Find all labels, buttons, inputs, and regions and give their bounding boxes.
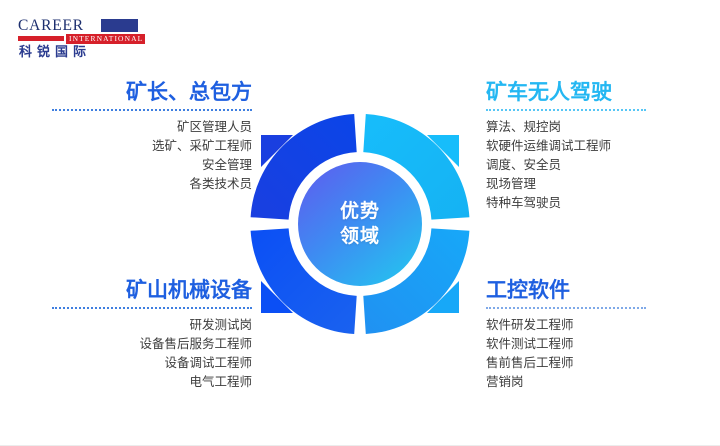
quadrant-block-top-right: 矿车无人驾驶 算法、规控岗 软硬件运维调试工程师 调度、安全员 现场管理 特种车… (486, 80, 686, 213)
list-item: 算法、规控岗 (486, 118, 686, 137)
list-item: 设备调试工程师 (52, 354, 252, 373)
brand-name-en-sub: INTERNATIONAL (66, 34, 145, 44)
donut-center-circle[interactable] (298, 162, 422, 286)
logo-red-bar-icon (18, 36, 64, 41)
quadrant-list-bottom-left: 研发测试岗 设备售后服务工程师 设备调试工程师 电气工程师 (52, 316, 252, 392)
quadrant-list-bottom-right: 软件研发工程师 软件测试工程师 售前售后工程师 营销岗 (486, 316, 686, 392)
heading-divider (486, 109, 646, 111)
list-item: 软硬件运维调试工程师 (486, 137, 686, 156)
list-item: 现场管理 (486, 175, 686, 194)
list-item: 特种车驾驶员 (486, 194, 686, 213)
brand-name-en: CAREER (18, 18, 84, 34)
quadrant-block-top-left: 矿长、总包方 矿区管理人员 选矿、采矿工程师 安全管理 各类技术员 (52, 80, 252, 194)
quadrant-list-top-right: 算法、规控岗 软硬件运维调试工程师 调度、安全员 现场管理 特种车驾驶员 (486, 118, 686, 213)
heading-divider (52, 109, 252, 111)
quadrant-block-bottom-right: 工控软件 软件研发工程师 软件测试工程师 售前售后工程师 营销岗 (486, 278, 686, 392)
logo-blue-block-icon (101, 19, 138, 32)
brand-logo: CAREER INTERNATIONAL 科锐国际 (18, 18, 138, 58)
quadrant-list-top-left: 矿区管理人员 选矿、采矿工程师 安全管理 各类技术员 (52, 118, 252, 194)
donut-svg (245, 109, 475, 339)
list-item: 设备售后服务工程师 (52, 335, 252, 354)
list-item: 营销岗 (486, 373, 686, 392)
brand-name-cn: 科锐国际 (19, 45, 91, 59)
list-item: 电气工程师 (52, 373, 252, 392)
list-item: 研发测试岗 (52, 316, 252, 335)
list-item: 矿区管理人员 (52, 118, 252, 137)
quadrant-heading-bottom-left: 矿山机械设备 (52, 278, 252, 304)
quadrant-heading-bottom-right: 工控软件 (486, 278, 686, 304)
heading-divider (486, 307, 646, 309)
list-item: 各类技术员 (52, 175, 252, 194)
slide-canvas: CAREER INTERNATIONAL 科锐国际 矿长、总包方 矿区管理人员 … (0, 0, 720, 446)
quadrant-heading-top-right: 矿车无人驾驶 (486, 80, 686, 106)
list-item: 软件研发工程师 (486, 316, 686, 335)
list-item: 调度、安全员 (486, 156, 686, 175)
quadrant-heading-top-left: 矿长、总包方 (52, 80, 252, 106)
list-item: 安全管理 (52, 156, 252, 175)
list-item: 售前售后工程师 (486, 354, 686, 373)
list-item: 选矿、采矿工程师 (52, 137, 252, 156)
donut-diagram: 优势 领域 (245, 109, 475, 339)
quadrant-block-bottom-left: 矿山机械设备 研发测试岗 设备售后服务工程师 设备调试工程师 电气工程师 (52, 278, 252, 392)
list-item: 软件测试工程师 (486, 335, 686, 354)
heading-divider (52, 307, 252, 309)
